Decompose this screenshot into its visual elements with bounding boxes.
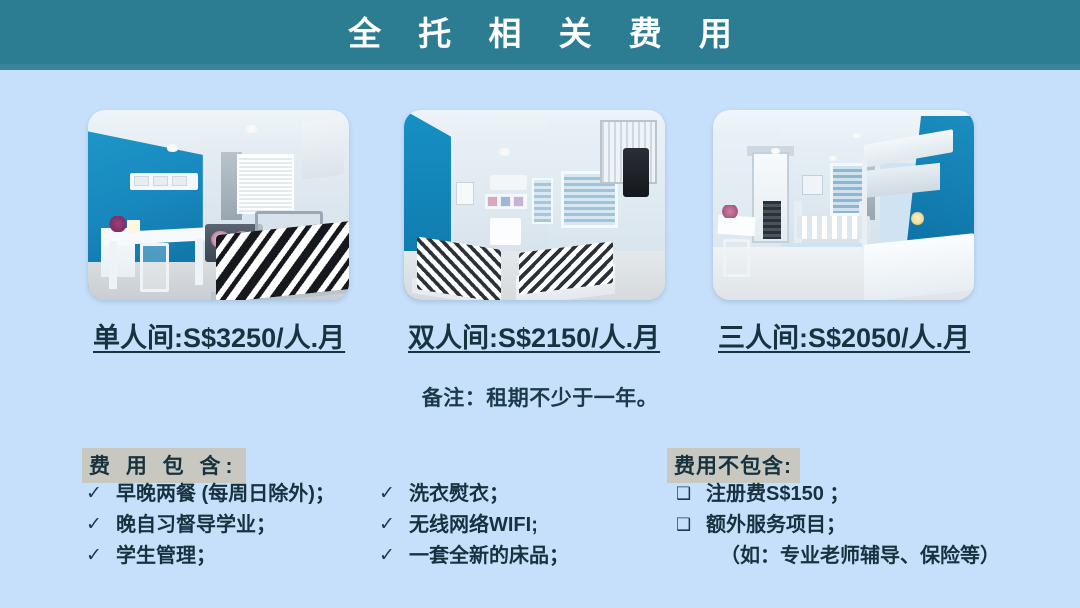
- list-item-label: 早晚两餐 (每周日除外)；: [116, 480, 335, 508]
- dark-shelf: [763, 201, 781, 239]
- check-icon: ✓: [86, 511, 116, 539]
- list-item-label: 一套全新的床品；: [409, 542, 569, 570]
- list-item-label: 学生管理；: [116, 542, 216, 570]
- ceiling-light: [770, 148, 780, 154]
- excluded-list: ❑ 注册费S$150 ； ❑ 额外服务项目； （如：专业老师辅导、保险等）: [676, 480, 1000, 573]
- check-icon: ✓: [86, 480, 116, 508]
- check-icon: ✓: [379, 542, 409, 570]
- desk-leg: [195, 239, 203, 285]
- list-item-label: 洗衣熨衣；: [409, 480, 509, 508]
- chair: [140, 243, 169, 292]
- bed-duvet: [216, 221, 349, 300]
- list-item: ✓ 无线网络WIFI;: [379, 511, 569, 542]
- ceiling-light: [245, 125, 258, 133]
- list-item-label: 无线网络WIFI;: [409, 511, 538, 539]
- room-photo-row: [0, 108, 1080, 304]
- window: [237, 154, 294, 215]
- included-heading: 费 用 包 含:: [82, 448, 246, 483]
- air-conditioner: [490, 175, 527, 190]
- list-item-sub: （如：专业老师辅导、保险等）: [676, 542, 1000, 573]
- triple-room-price: 三人间:S$2050/人.月: [718, 316, 970, 355]
- flower-vase: [721, 205, 739, 218]
- list-item: ✓ 洗衣熨衣；: [379, 480, 569, 511]
- wall-picture: [802, 175, 823, 196]
- list-item-sub-label: （如：专业老师辅导、保险等）: [706, 542, 1000, 570]
- slide-page: 全 托 相 关 费 用: [0, 0, 1080, 608]
- wall-shelf: [130, 173, 198, 190]
- double-room-photo[interactable]: [404, 110, 665, 300]
- wall-picture-trio: [485, 194, 527, 209]
- chair: [723, 239, 749, 277]
- flower-vase: [109, 216, 127, 231]
- desk-leg: [109, 241, 117, 289]
- list-item: ✓ 一套全新的床品；: [379, 542, 569, 573]
- vanity-desk: [718, 215, 756, 237]
- triple-room-photo[interactable]: [713, 110, 974, 300]
- list-item: ❑ 注册费S$150 ；: [676, 480, 1000, 511]
- included-list-column-2: ✓ 洗衣熨衣； ✓ 无线网络WIFI; ✓ 一套全新的床品；: [379, 480, 569, 573]
- list-item: ❑ 额外服务项目；: [676, 511, 1000, 542]
- single-room-photo-image: [88, 110, 349, 300]
- double-room-photo-image: [404, 110, 665, 300]
- single-room-price: 单人间:S$3250/人.月: [93, 316, 345, 355]
- ceiling-light: [498, 148, 511, 156]
- person-silhouette: [623, 148, 649, 197]
- counter-desk: [864, 233, 974, 300]
- lease-note: 备注：租期不少于一年。: [0, 382, 1080, 412]
- list-item: ✓ 早晚两餐 (每周日除外)；: [86, 480, 335, 511]
- check-icon: ✓: [86, 542, 116, 570]
- list-item: ✓ 学生管理；: [86, 542, 335, 573]
- list-item-label: 注册费S$150 ；: [706, 480, 849, 508]
- study-table: [490, 218, 521, 245]
- excluded-heading: 费用不包含:: [667, 448, 800, 483]
- single-room-photo[interactable]: [88, 110, 349, 300]
- wall-picture: [456, 182, 474, 205]
- included-list-column-1: ✓ 早晚两餐 (每周日除外)； ✓ 晚自习督导学业； ✓ 学生管理；: [86, 480, 335, 573]
- desk-lamp: [127, 220, 140, 233]
- side-window: [532, 178, 553, 224]
- list-item: ✓ 晚自习督导学业；: [86, 511, 335, 542]
- ceiling-light: [166, 144, 179, 152]
- bunk-bed-post: [862, 159, 867, 250]
- check-icon: ✓: [379, 480, 409, 508]
- double-room-price: 双人间:S$2150/人.月: [408, 316, 660, 355]
- square-bullet-icon: ❑: [676, 511, 706, 539]
- table-lamp: [911, 211, 924, 226]
- check-icon: ✓: [379, 511, 409, 539]
- header-sheen: [0, 64, 1080, 70]
- square-bullet-icon: ❑: [676, 480, 706, 508]
- list-item-label: 额外服务项目；: [706, 511, 846, 539]
- list-item-label: 晚自习督导学业；: [116, 511, 276, 539]
- triple-room-photo-image: [713, 110, 974, 300]
- air-conditioner: [302, 117, 344, 180]
- single-bed: [797, 216, 870, 239]
- page-title: 全 托 相 关 费 用: [0, 13, 1080, 55]
